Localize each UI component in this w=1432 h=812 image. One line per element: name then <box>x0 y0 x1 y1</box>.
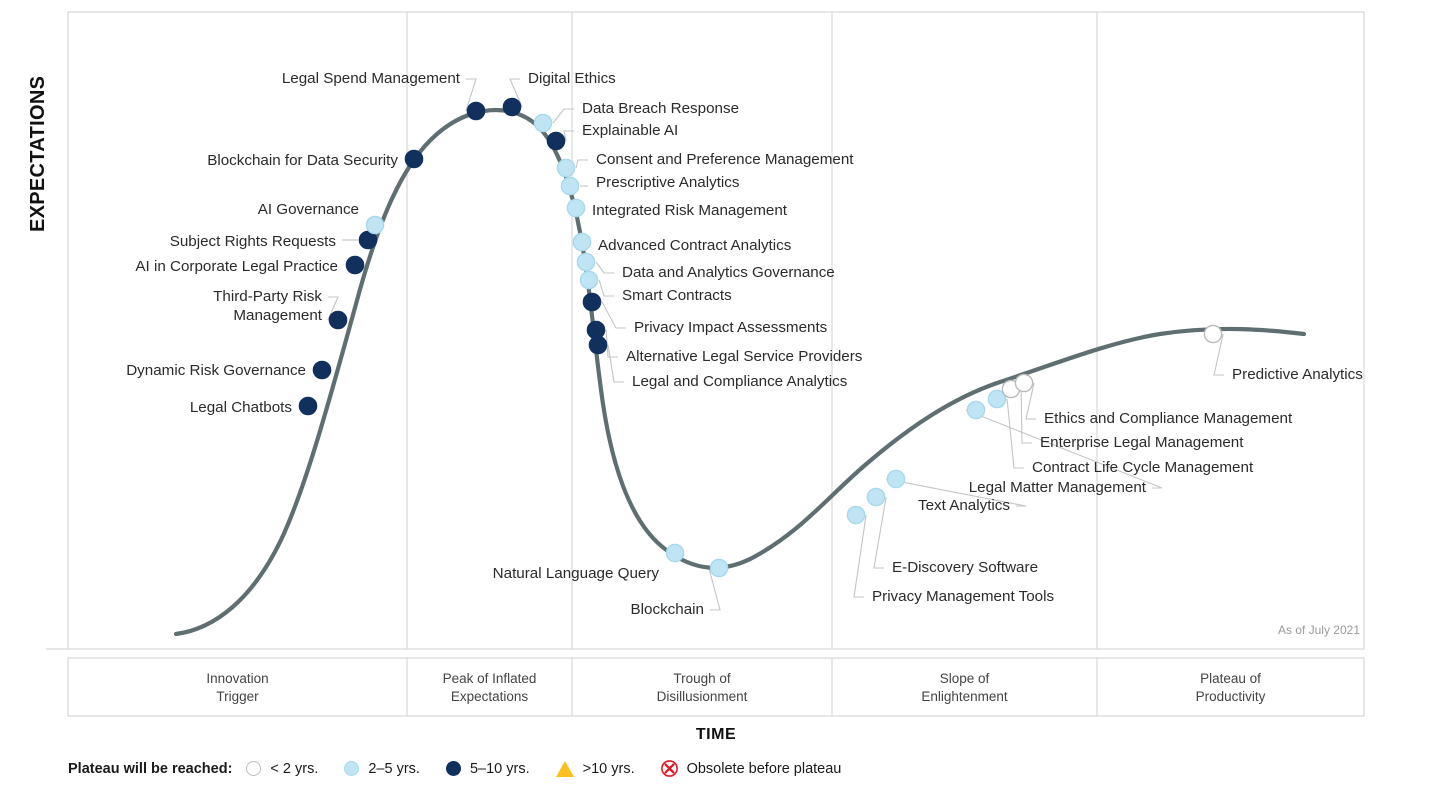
point-label-line: Ethics and Compliance Management <box>1044 409 1432 428</box>
point-label-line: Enterprise Legal Management <box>1040 433 1432 452</box>
data-point-legal-matter-management[interactable] <box>967 401 984 418</box>
circle-white-icon <box>246 761 261 776</box>
point-label-line: Data and Analytics Governance <box>622 263 1432 282</box>
point-label-contract-life-cycle-management[interactable]: Contract Life Cycle Management <box>1032 458 1432 477</box>
phase-label-line1: Trough of <box>572 670 832 688</box>
point-label-legal-matter-management[interactable]: Legal Matter Management <box>0 478 1146 497</box>
point-label-line: AI in Corporate Legal Practice <box>0 257 338 276</box>
phase-label-1: InnovationTrigger <box>68 670 407 706</box>
point-label-line: Natural Language Query <box>0 564 659 583</box>
legend-item-lt2yrs[interactable]: < 2 yrs. <box>246 761 318 777</box>
point-label-line: Blockchain for Data Security <box>0 151 398 170</box>
data-point-ai-governance[interactable] <box>366 216 383 233</box>
point-label-line: Dynamic Risk Governance <box>0 361 306 380</box>
point-label-line: Predictive Analytics <box>1232 365 1432 384</box>
x-red-icon <box>661 760 678 777</box>
data-point-third-party-risk-management[interactable] <box>329 311 346 328</box>
point-label-line: Digital Ethics <box>528 69 1432 88</box>
point-label-ethics-and-compliance-management[interactable]: Ethics and Compliance Management <box>1044 409 1432 428</box>
point-label-line: Data Breach Response <box>582 99 1432 118</box>
phase-label-3: Trough ofDisillusionment <box>572 670 832 706</box>
point-label-privacy-impact-assessments[interactable]: Privacy Impact Assessments <box>634 318 1432 337</box>
phase-label-line2: Enlightenment <box>832 688 1097 706</box>
data-point-natural-language-query[interactable] <box>666 544 683 561</box>
maturity-legend: Plateau will be reached: < 2 yrs. 2–5 yr… <box>68 760 867 777</box>
data-point-explainable-ai[interactable] <box>547 132 564 149</box>
leader-line-privacy-management-tools <box>854 515 866 597</box>
point-label-line: Integrated Risk Management <box>592 201 1432 220</box>
legend-label-2to5yrs: 2–5 yrs. <box>368 761 420 777</box>
phase-label-line1: Innovation <box>68 670 407 688</box>
data-point-blockchain[interactable] <box>710 559 727 576</box>
point-label-line: Legal Spend Management <box>0 69 460 88</box>
data-point-dynamic-risk-governance[interactable] <box>313 361 330 378</box>
point-label-line: AI Governance <box>0 200 359 219</box>
phase-label-line2: Trigger <box>68 688 407 706</box>
point-label-line: Management <box>0 306 322 325</box>
point-label-line: Prescriptive Analytics <box>596 173 1432 192</box>
leader-line-consent-and-preference-management <box>576 160 588 168</box>
point-label-line: Blockchain <box>0 600 704 619</box>
leader-line-privacy-impact-assessments <box>602 302 626 328</box>
phase-label-line2: Disillusionment <box>572 688 832 706</box>
point-label-line: E-Discovery Software <box>892 558 1432 577</box>
data-point-privacy-impact-assessments[interactable] <box>583 293 600 310</box>
point-label-consent-and-preference-management[interactable]: Consent and Preference Management <box>596 150 1432 169</box>
point-label-data-and-analytics-governance[interactable]: Data and Analytics Governance <box>622 263 1432 282</box>
legend-item-2to5yrs[interactable]: 2–5 yrs. <box>344 761 420 777</box>
point-label-alternative-legal-service-providers[interactable]: Alternative Legal Service Providers <box>626 347 1432 366</box>
point-label-privacy-management-tools[interactable]: Privacy Management Tools <box>872 587 1432 606</box>
legend-title: Plateau will be reached: <box>68 761 232 777</box>
legend-item-5to10yrs[interactable]: 5–10 yrs. <box>446 761 530 777</box>
leader-line-data-and-analytics-governance <box>596 262 614 273</box>
phase-label-4: Slope ofEnlightenment <box>832 670 1097 706</box>
point-label-blockchain[interactable]: Blockchain <box>0 600 704 619</box>
point-label-dynamic-risk-governance[interactable]: Dynamic Risk Governance <box>0 361 306 380</box>
legend-label-5to10yrs: 5–10 yrs. <box>470 761 530 777</box>
data-point-blockchain-for-data-security[interactable] <box>405 150 422 167</box>
data-point-legal-chatbots[interactable] <box>299 397 316 414</box>
data-point-ai-in-corporate-legal-practice[interactable] <box>346 256 363 273</box>
phase-label-line1: Peak of Inflated <box>407 670 572 688</box>
data-point-legal-spend-management[interactable] <box>467 102 484 119</box>
point-label-e-discovery-software[interactable]: E-Discovery Software <box>892 558 1432 577</box>
data-point-legal-and-compliance-analytics[interactable] <box>589 336 606 353</box>
point-label-natural-language-query[interactable]: Natural Language Query <box>0 564 659 583</box>
point-label-third-party-risk-management[interactable]: Third-Party RiskManagement <box>0 287 322 326</box>
phase-label-5: Plateau ofProductivity <box>1097 670 1364 706</box>
legend-item-obsolete[interactable]: Obsolete before plateau <box>661 760 842 777</box>
legend-item-gt10yrs[interactable]: >10 yrs. <box>556 761 635 777</box>
point-label-ai-in-corporate-legal-practice[interactable]: AI in Corporate Legal Practice <box>0 257 338 276</box>
point-label-explainable-ai[interactable]: Explainable AI <box>582 121 1432 140</box>
point-label-smart-contracts[interactable]: Smart Contracts <box>622 286 1432 305</box>
point-label-subject-rights-requests[interactable]: Subject Rights Requests <box>0 232 336 251</box>
point-label-blockchain-for-data-security[interactable]: Blockchain for Data Security <box>0 151 398 170</box>
point-label-legal-chatbots[interactable]: Legal Chatbots <box>0 398 292 417</box>
data-point-integrated-risk-management[interactable] <box>567 199 584 216</box>
data-point-consent-and-preference-management[interactable] <box>557 159 574 176</box>
point-label-text-analytics[interactable]: Text Analytics <box>0 496 1010 515</box>
legend-label-obsolete: Obsolete before plateau <box>687 761 842 777</box>
point-label-line: Explainable AI <box>582 121 1432 140</box>
point-label-legal-spend-management[interactable]: Legal Spend Management <box>0 69 460 88</box>
point-label-line: Advanced Contract Analytics <box>598 236 1432 255</box>
point-label-line: Text Analytics <box>0 496 1010 515</box>
point-label-digital-ethics[interactable]: Digital Ethics <box>528 69 1432 88</box>
data-point-data-and-analytics-governance[interactable] <box>577 253 594 270</box>
phase-label-line2: Productivity <box>1097 688 1364 706</box>
point-label-ai-governance[interactable]: AI Governance <box>0 200 359 219</box>
phase-label-line2: Expectations <box>407 688 572 706</box>
point-label-line: Smart Contracts <box>622 286 1432 305</box>
leader-line-alternative-legal-service-providers <box>606 330 618 357</box>
point-label-line: Contract Life Cycle Management <box>1032 458 1432 477</box>
leader-line-smart-contracts <box>599 280 614 296</box>
point-label-line: Legal Chatbots <box>0 398 292 417</box>
point-label-integrated-risk-management[interactable]: Integrated Risk Management <box>592 201 1432 220</box>
point-label-predictive-analytics[interactable]: Predictive Analytics <box>1232 365 1432 384</box>
point-label-data-breach-response[interactable]: Data Breach Response <box>582 99 1432 118</box>
point-label-line: Privacy Management Tools <box>872 587 1432 606</box>
phase-label-2: Peak of InflatedExpectations <box>407 670 572 706</box>
data-point-advanced-contract-analytics[interactable] <box>573 233 590 250</box>
legend-label-gt10yrs: >10 yrs. <box>583 761 635 777</box>
leader-line-data-breach-response <box>553 109 574 123</box>
data-point-digital-ethics[interactable] <box>503 98 520 115</box>
point-label-line: Privacy Impact Assessments <box>634 318 1432 337</box>
data-point-prescriptive-analytics[interactable] <box>561 177 578 194</box>
point-label-enterprise-legal-management[interactable]: Enterprise Legal Management <box>1040 433 1432 452</box>
circle-light-blue-icon <box>344 761 359 776</box>
phase-label-line1: Slope of <box>832 670 1097 688</box>
point-label-line: Legal Matter Management <box>0 478 1146 497</box>
point-label-advanced-contract-analytics[interactable]: Advanced Contract Analytics <box>598 236 1432 255</box>
data-point-smart-contracts[interactable] <box>580 271 597 288</box>
point-label-line: Consent and Preference Management <box>596 150 1432 169</box>
leader-line-legal-and-compliance-analytics <box>608 345 624 382</box>
phase-label-line1: Plateau of <box>1097 670 1364 688</box>
triangle-yellow-icon <box>556 761 574 777</box>
point-label-line: Alternative Legal Service Providers <box>626 347 1432 366</box>
data-point-data-breach-response[interactable] <box>534 114 551 131</box>
circle-dark-blue-icon <box>446 761 461 776</box>
point-label-line: Subject Rights Requests <box>0 232 336 251</box>
hype-cycle-chart: EXPECTATIONS TIME As of July 2021 <box>0 0 1432 812</box>
legend-label-lt2yrs: < 2 yrs. <box>270 761 318 777</box>
point-label-line: Third-Party Risk <box>0 287 322 306</box>
point-label-prescriptive-analytics[interactable]: Prescriptive Analytics <box>596 173 1432 192</box>
